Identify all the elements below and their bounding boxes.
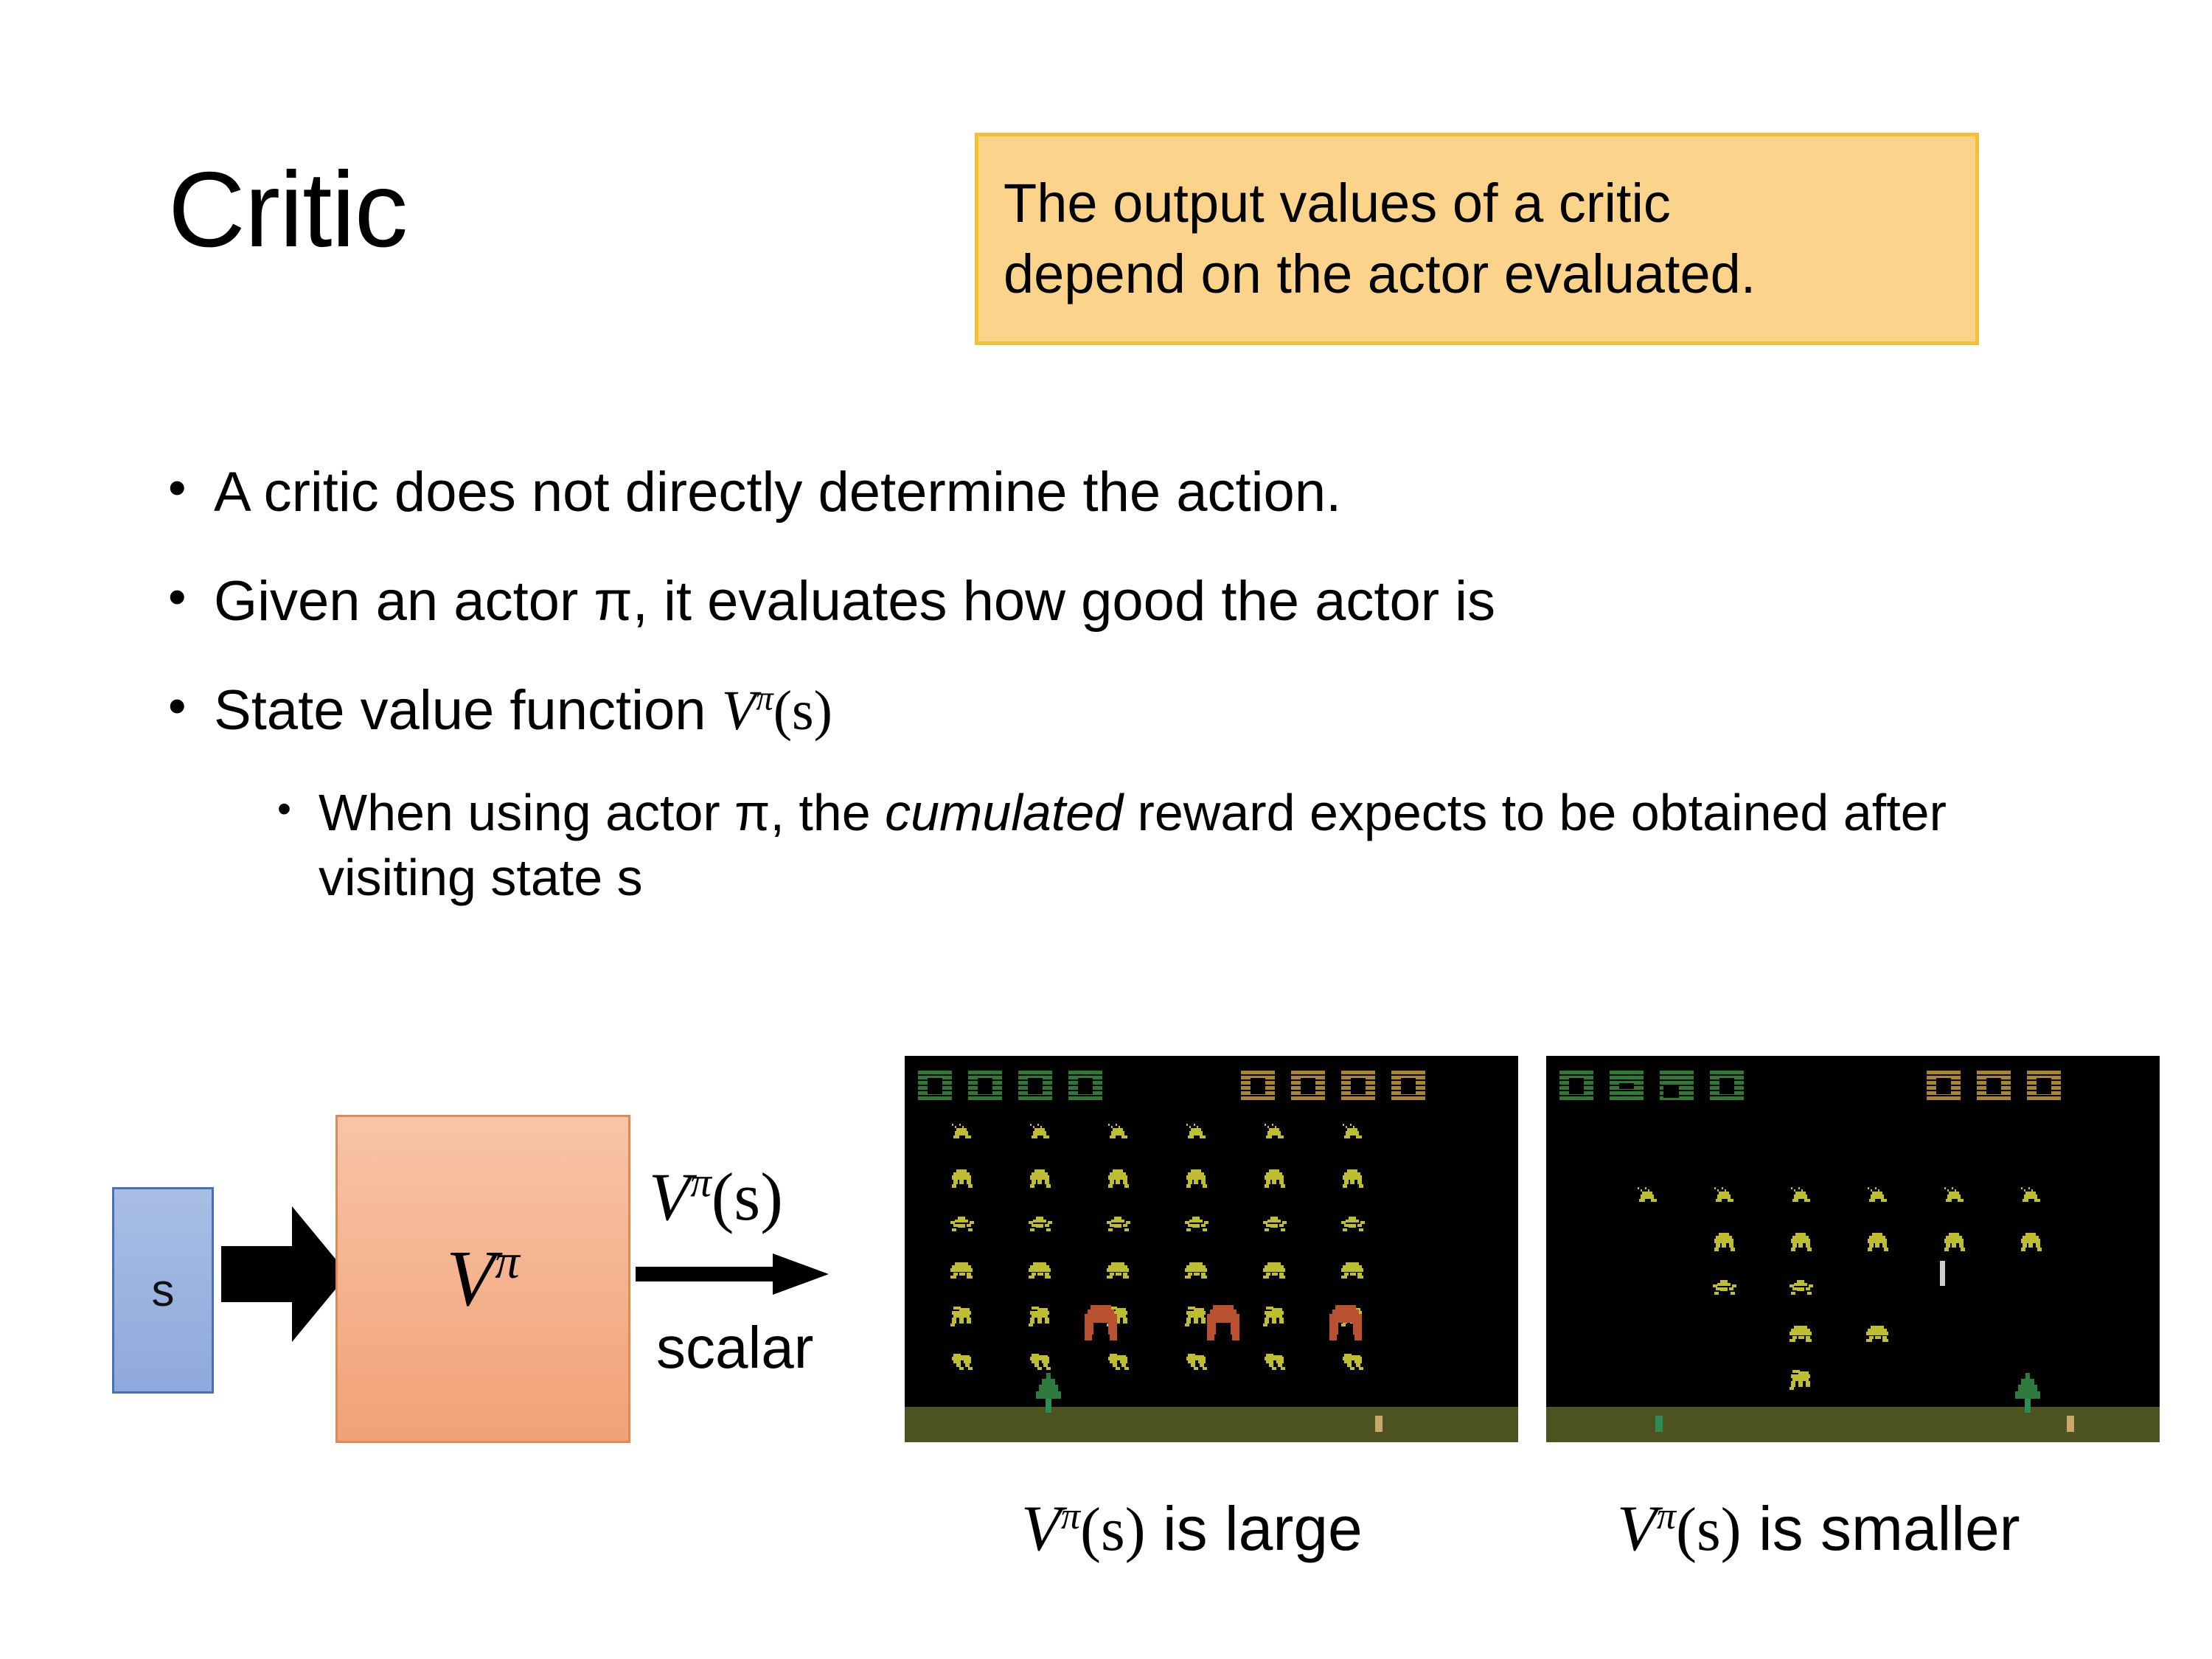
- math-symbol-pi: π: [690, 1159, 712, 1206]
- ground-marker-tan: [2067, 1416, 2074, 1432]
- caption-text: is smaller: [1742, 1494, 2020, 1563]
- bullet-text-part-a: When using actor π, the: [319, 784, 885, 841]
- alien-sprite: [1183, 1169, 1214, 1194]
- alien-sprite: [1340, 1261, 1371, 1286]
- slide-canvas: Critic The output values of a critic dep…: [0, 0, 2212, 1659]
- score-digit: [1018, 1071, 1052, 1102]
- score-digit: [1341, 1071, 1375, 1102]
- score-player-right: [1559, 1071, 1744, 1102]
- model-formula: Vπ: [446, 1234, 520, 1325]
- math-symbol-V: V: [722, 680, 756, 742]
- alien-sprite: [2018, 1233, 2049, 1258]
- score-digit: [1927, 1071, 1961, 1102]
- bullet-text: A critic does not directly determine the…: [214, 457, 1341, 528]
- tree-icon: [2015, 1373, 2040, 1413]
- callout-line-1: The output values of a critic: [1004, 168, 1950, 239]
- alien-sprite: [1183, 1215, 1214, 1240]
- shield-sprite: [1328, 1305, 1363, 1343]
- score-digit: [1068, 1071, 1102, 1102]
- alien-sprite: [1788, 1187, 1819, 1212]
- ground-strip: [905, 1407, 1518, 1442]
- block-arrow-icon: [221, 1200, 348, 1348]
- state-input-box: s: [112, 1187, 214, 1394]
- score-digit: [1610, 1071, 1644, 1102]
- alien-sprite: [949, 1215, 980, 1240]
- alien-sprite: [1711, 1279, 1742, 1304]
- alien-sprite: [1865, 1324, 1896, 1349]
- math-symbol-V: V: [1617, 1492, 1657, 1565]
- alien-sprite: [1788, 1370, 1819, 1395]
- caption-left: Vπ(s) is large: [1021, 1491, 1363, 1566]
- bullet-marker-icon: •: [168, 680, 214, 731]
- alien-sprite: [1262, 1124, 1293, 1149]
- state-label: s: [152, 1265, 175, 1317]
- alien-sprite: [1262, 1215, 1293, 1240]
- game-screenshot-right: [1546, 1056, 2160, 1442]
- math-symbol-pi: π: [1061, 1495, 1080, 1537]
- score-digit: [1660, 1071, 1694, 1102]
- list-item: • Given an actor π, it evaluates how goo…: [168, 566, 2041, 637]
- ground-notch: [905, 1397, 924, 1407]
- ground-marker-tan: [1375, 1416, 1382, 1432]
- alien-sprite: [1340, 1124, 1371, 1149]
- alien-sprite: [1941, 1233, 1972, 1258]
- caption-text: is large: [1146, 1494, 1363, 1563]
- alien-sprite: [1711, 1233, 1742, 1258]
- callout-line-2: depend on the actor evaluated.: [1004, 239, 1950, 310]
- callout-box: The output values of a critic depend on …: [975, 133, 1979, 345]
- bullet-text-emphasis: cumulated: [885, 784, 1123, 841]
- bullet-text: When using actor π, the cumulated reward…: [319, 780, 2041, 910]
- alien-sprite: [1027, 1215, 1058, 1240]
- bullet-marker-icon: •: [277, 789, 319, 829]
- ground-notch: [1546, 1397, 1565, 1407]
- math-symbol-pi: π: [756, 679, 773, 717]
- math-symbol-pi: π: [1657, 1495, 1676, 1537]
- bullet-marker-icon: •: [168, 571, 214, 622]
- alien-sprite: [949, 1261, 980, 1286]
- math-argument: (s): [1676, 1495, 1742, 1564]
- bullet-marker-icon: •: [168, 462, 214, 513]
- alien-sprite: [1105, 1169, 1136, 1194]
- output-value-label: Vπ(s): [649, 1158, 783, 1236]
- bullet-text: Given an actor π, it evaluates how good …: [214, 566, 1495, 637]
- list-item: • A critic does not directly determine t…: [168, 457, 2041, 528]
- math-argument: (s): [1080, 1495, 1146, 1564]
- math-argument: (s): [712, 1159, 783, 1234]
- alien-sprite: [1027, 1124, 1058, 1149]
- alien-sprite: [949, 1124, 980, 1149]
- alien-sprite: [1183, 1261, 1214, 1286]
- scalar-label: scalar: [656, 1314, 813, 1382]
- alien-sprite: [1865, 1233, 1896, 1258]
- math-symbol-V: V: [446, 1235, 495, 1323]
- alien-sprite: [1105, 1352, 1136, 1377]
- bullet-list: • A critic does not directly determine t…: [168, 457, 2041, 949]
- alien-sprite: [1788, 1233, 1819, 1258]
- alien-sprite: [1788, 1324, 1819, 1349]
- math-symbol-V: V: [1021, 1492, 1061, 1565]
- alien-sprite: [949, 1352, 980, 1377]
- score-digit: [1291, 1071, 1325, 1102]
- bullet-text: State value function Vπ(s): [214, 675, 832, 747]
- score-digit: [968, 1071, 1002, 1102]
- alien-sprite: [1635, 1187, 1666, 1212]
- shield-sprite: [1083, 1305, 1119, 1343]
- score-digit: [1391, 1071, 1425, 1102]
- alien-sprite: [949, 1169, 980, 1194]
- alien-sprite: [1941, 1187, 1972, 1212]
- score-opponent-right: [1927, 1071, 2061, 1102]
- ground-marker-green: [1655, 1416, 1663, 1432]
- alien-sprite: [1340, 1215, 1371, 1240]
- score-digit: [918, 1071, 952, 1102]
- alien-sprite: [1262, 1169, 1293, 1194]
- alien-sprite: [1711, 1187, 1742, 1212]
- alien-sprite: [1788, 1279, 1819, 1304]
- game-screenshot-left: [905, 1056, 1518, 1442]
- alien-sprite: [1027, 1261, 1058, 1286]
- alien-sprite: [1865, 1187, 1896, 1212]
- critic-model-box: Vπ: [335, 1115, 630, 1443]
- list-item: • When using actor π, the cumulated rewa…: [168, 780, 2041, 910]
- shield-sprite: [1206, 1305, 1241, 1343]
- alien-sprite: [1105, 1124, 1136, 1149]
- projectile-icon: [1940, 1261, 1945, 1286]
- math-symbol-pi: π: [495, 1234, 520, 1289]
- score-player-left: [918, 1071, 1102, 1102]
- score-digit: [1710, 1071, 1744, 1102]
- alien-sprite: [1340, 1352, 1371, 1377]
- score-digit: [1241, 1071, 1275, 1102]
- output-arrow-icon: [636, 1253, 829, 1295]
- alien-sprite: [1105, 1215, 1136, 1240]
- score-digit: [2027, 1071, 2061, 1102]
- caption-right: Vπ(s) is smaller: [1617, 1491, 2020, 1566]
- alien-sprite: [2018, 1187, 2049, 1212]
- alien-sprite: [1027, 1169, 1058, 1194]
- list-item: • State value function Vπ(s): [168, 675, 2041, 747]
- score-digit: [1977, 1071, 2011, 1102]
- math-argument: (s): [773, 680, 832, 742]
- alien-sprite: [1183, 1124, 1214, 1149]
- alien-sprite: [1262, 1352, 1293, 1377]
- score-digit: [1559, 1071, 1593, 1102]
- alien-sprite: [1262, 1307, 1293, 1332]
- tree-icon: [1036, 1373, 1061, 1413]
- alien-sprite: [1027, 1307, 1058, 1332]
- bullet-text-prefix: State value function: [214, 679, 722, 742]
- alien-sprite: [1262, 1261, 1293, 1286]
- alien-sprite: [949, 1307, 980, 1332]
- page-title: Critic: [168, 156, 407, 263]
- alien-sprite: [1340, 1169, 1371, 1194]
- alien-sprite: [1105, 1261, 1136, 1286]
- alien-sprite: [1183, 1352, 1214, 1377]
- score-opponent-left: [1241, 1071, 1425, 1102]
- math-symbol-V: V: [649, 1159, 690, 1234]
